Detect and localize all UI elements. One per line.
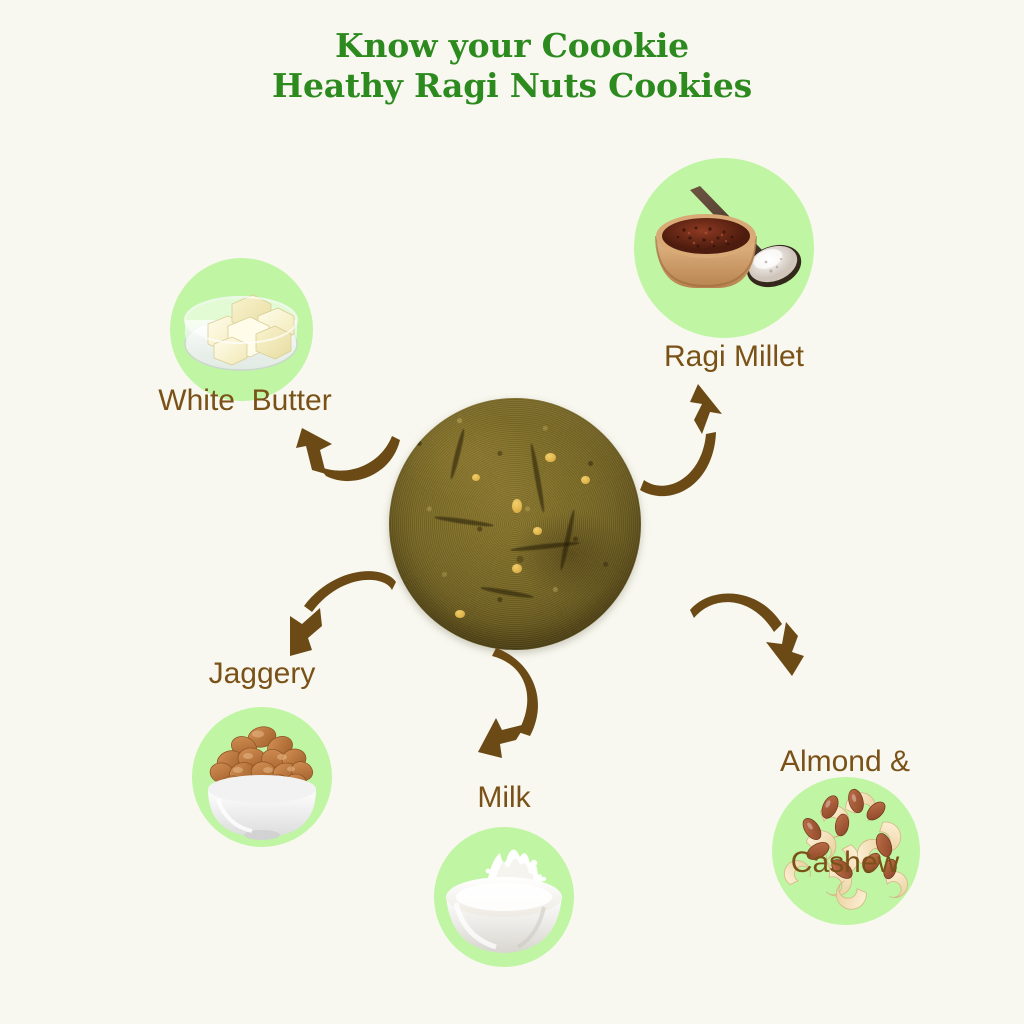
label-almond-cashew-line1: Almond & [700,745,990,779]
title-line-2: Heathy Ragi Nuts Cookies [0,66,1024,106]
arrow-to-almond-cashew [688,580,808,685]
label-milk: Milk [384,781,624,815]
jaggery-bowl-svg [192,707,332,847]
jaggery-bowl-image [192,707,332,847]
arrow-to-white-butter [288,418,408,498]
arrow-to-ragi-millet [640,382,740,502]
ragi-bowl-spoon-image [634,158,814,338]
milk-bowl-svg [434,827,574,967]
label-white-butter: White Butter [95,384,395,418]
page-title: Know your Coookie Heathy Ragi Nuts Cooki… [0,26,1024,107]
ragi-bowl-svg [634,158,814,338]
label-almond-cashew-line2: Cashew [700,846,990,880]
label-ragi-millet: Ragi Millet [604,340,864,374]
cookie-texture [389,398,641,650]
arrow-to-jaggery [278,566,398,666]
butter-cubes-bowl-image [170,258,313,401]
title-line-1: Know your Coookie [0,26,1024,66]
milk-bowl-splash-image [434,827,574,967]
arrow-to-milk [468,640,568,765]
infographic-canvas: Know your Coookie Heathy Ragi Nuts Cooki… [0,0,1024,1024]
butter-bowl-svg [170,258,313,401]
label-almond-cashew: Almond & Cashew [700,678,990,947]
ragi-nuts-cookie-image [389,398,641,650]
